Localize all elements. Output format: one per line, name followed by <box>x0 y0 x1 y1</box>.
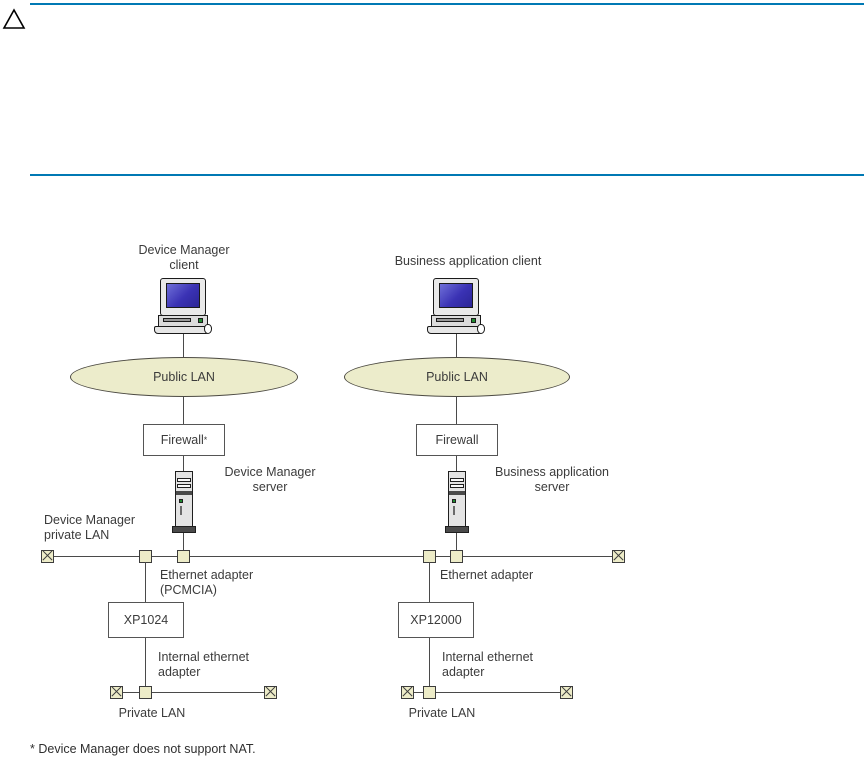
right-public-lan-node: Public LAN <box>344 357 570 397</box>
right-firewall-node: Firewall <box>416 424 498 456</box>
left-server-label: Device Manager server <box>200 465 340 495</box>
left-lan-firewall-link <box>183 396 184 425</box>
left-private-lan-label: Private LAN <box>92 706 212 721</box>
private-lan-left-terminator <box>41 550 54 563</box>
right-client-label: Business application client <box>378 254 558 269</box>
desktop-computer-icon <box>154 278 214 336</box>
left-server-ethernet-adapter <box>177 550 190 563</box>
right-internal-adapter-label: Internal ethernet adapter <box>442 650 592 680</box>
left-storage-label: XP1024 <box>124 613 168 627</box>
left-internal-ethernet-adapter <box>139 686 152 699</box>
left-internal-adapter-label: Internal ethernet adapter <box>158 650 308 680</box>
right-lan-firewall-link <box>456 396 457 425</box>
left-client-label: Device Manager client <box>116 243 252 273</box>
server-tower-icon <box>445 471 469 533</box>
right-firewall-label: Firewall <box>435 433 478 447</box>
left-firewall-label: Firewall <box>161 433 204 447</box>
right-private-lan-left-terminator <box>401 686 414 699</box>
right-server-ethernet-adapter <box>450 550 463 563</box>
page-canvas: Device Manager client Public LAN Firewal… <box>0 0 864 765</box>
right-ethernet-adapter-label: Ethernet adapter <box>440 568 600 583</box>
private-lan-bus <box>48 556 620 557</box>
left-public-lan-node: Public LAN <box>70 357 298 397</box>
network-diagram: Device Manager client Public LAN Firewal… <box>0 0 864 765</box>
left-storage-node: XP1024 <box>108 602 184 638</box>
desktop-computer-icon <box>427 278 487 336</box>
right-storage-label: XP12000 <box>410 613 461 627</box>
right-public-lan-label: Public LAN <box>426 370 488 384</box>
right-private-lan-label: Private LAN <box>382 706 502 721</box>
device-manager-private-lan-label: Device Manager private LAN <box>44 513 194 543</box>
left-storage-private-link <box>145 638 146 692</box>
right-server-label: Business application server <box>472 465 632 495</box>
right-adapter-storage-link <box>429 562 430 604</box>
right-storage-node: XP12000 <box>398 602 474 638</box>
right-internal-ethernet-adapter <box>423 686 436 699</box>
right-private-lan-right-terminator <box>560 686 573 699</box>
left-firewall-node: Firewall* <box>143 424 225 456</box>
private-lan-right-terminator <box>612 550 625 563</box>
left-private-lan-left-terminator <box>110 686 123 699</box>
left-ethernet-adapter-label: Ethernet adapter (PCMCIA) <box>160 568 310 598</box>
footnote-text: * Device Manager does not support NAT. <box>30 742 256 756</box>
right-storage-private-link <box>429 638 430 692</box>
left-public-lan-label: Public LAN <box>153 370 215 384</box>
left-private-lan-right-terminator <box>264 686 277 699</box>
left-adapter-storage-link <box>145 562 146 604</box>
